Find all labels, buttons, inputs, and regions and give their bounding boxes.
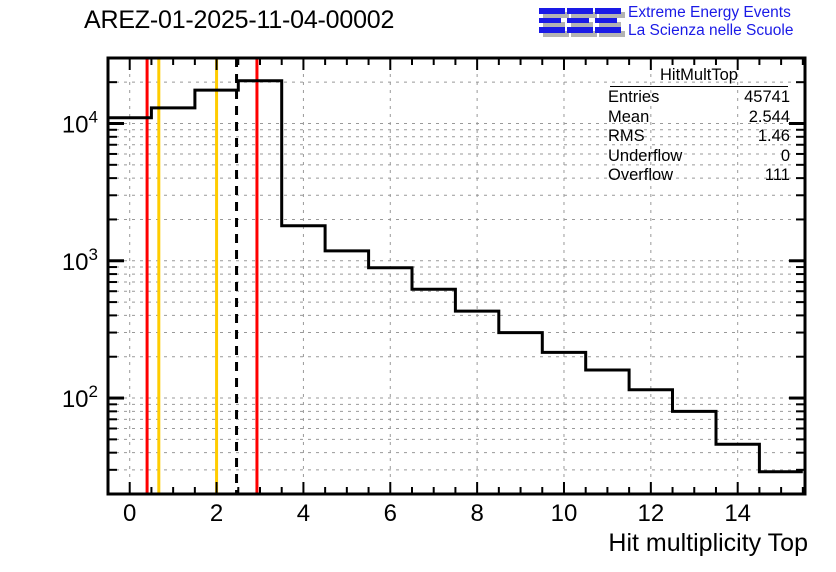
y-tick-mantissa: 10 xyxy=(62,386,89,413)
x-tick-labels-layer: 02468101214 xyxy=(123,500,751,527)
x-tick-label: 10 xyxy=(551,500,578,527)
stats-title: HitMultTop xyxy=(610,66,788,87)
x-axis-title: Hit multiplicity Top xyxy=(608,529,808,558)
stats-row: Underflow0 xyxy=(604,147,794,167)
root-canvas: AREZ-01-2025-11-04-00002 xyxy=(0,0,836,572)
y-tick-mantissa: 10 xyxy=(62,111,89,138)
stats-row-value: 2.544 xyxy=(749,108,790,128)
stats-row-label: Mean xyxy=(608,108,649,128)
x-tick-label: 12 xyxy=(637,500,664,527)
y-tick-label: 104 xyxy=(62,107,98,138)
y-tick-exponent: 4 xyxy=(89,107,98,126)
y-tick-labels-layer: 102103104 xyxy=(62,107,98,413)
stats-row-value: 45741 xyxy=(744,88,790,108)
stats-row: Overflow111 xyxy=(604,166,794,186)
y-tick-mantissa: 10 xyxy=(62,249,89,276)
stats-row-value: 111 xyxy=(765,166,790,186)
stats-row-label: Underflow xyxy=(608,147,682,167)
stats-row-value: 1.46 xyxy=(758,127,790,147)
stats-row-label: RMS xyxy=(608,127,645,147)
stats-row-label: Entries xyxy=(608,88,659,108)
marker-lines-layer xyxy=(147,58,257,494)
x-tick-label: 0 xyxy=(123,500,136,527)
statistics-box: HitMultTop Entries45741Mean2.544RMS1.46U… xyxy=(604,66,794,186)
stats-row-label: Overflow xyxy=(608,166,673,186)
stats-row-value: 0 xyxy=(781,147,790,167)
x-tick-label: 2 xyxy=(210,500,223,527)
y-tick-exponent: 3 xyxy=(89,245,98,264)
x-tick-label: 14 xyxy=(724,500,751,527)
y-tick-label: 103 xyxy=(62,245,98,276)
stats-row: Mean2.544 xyxy=(604,108,794,128)
x-tick-label: 8 xyxy=(470,500,483,527)
x-tick-label: 4 xyxy=(297,500,310,527)
stats-row: Entries45741 xyxy=(604,88,794,108)
stats-row: RMS1.46 xyxy=(604,127,794,147)
y-tick-label: 102 xyxy=(62,382,98,413)
x-tick-label: 6 xyxy=(384,500,397,527)
stats-rows: Entries45741Mean2.544RMS1.46Underflow0Ov… xyxy=(604,88,794,186)
y-tick-exponent: 2 xyxy=(89,382,98,401)
